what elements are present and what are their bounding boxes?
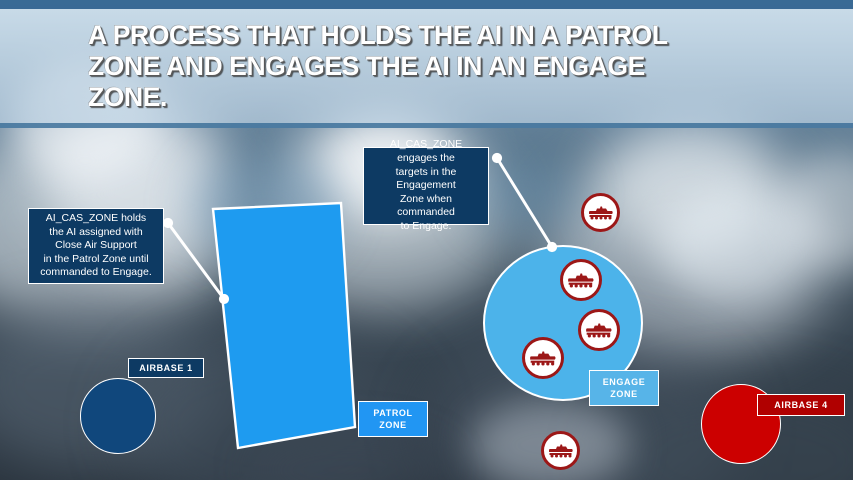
airbase-1-marker[interactable] <box>80 378 156 454</box>
page-title: A PROCESS THAT HOLDS THE AI IN A PATROL … <box>88 20 788 113</box>
header-top-rule <box>0 0 853 9</box>
armored-vehicle-icon <box>585 323 613 338</box>
callout-engage-zone: AI_CAS_ZONE engages the targets in the E… <box>363 147 489 225</box>
target-marker-4[interactable] <box>522 337 564 379</box>
patrol-zone-label: PATROL ZONE <box>358 401 428 437</box>
target-marker-3[interactable] <box>578 309 620 351</box>
armored-vehicle-icon <box>548 444 574 458</box>
armored-vehicle-icon <box>588 206 614 220</box>
armored-vehicle-icon <box>567 273 595 288</box>
armored-vehicle-icon <box>529 351 557 366</box>
target-marker-5[interactable] <box>541 431 580 470</box>
airbase-1-label: AIRBASE 1 <box>128 358 204 378</box>
target-marker-1[interactable] <box>581 193 620 232</box>
engage-zone-label: ENGAGE ZONE <box>589 370 659 406</box>
airbase-4-label: AIRBASE 4 <box>757 394 845 416</box>
presentation-slide: A PROCESS THAT HOLDS THE AI IN A PATROL … <box>0 0 853 480</box>
header-bottom-rule <box>0 123 853 128</box>
target-marker-2[interactable] <box>560 259 602 301</box>
callout-patrol-zone: AI_CAS_ZONE holds the AI assigned with C… <box>28 208 164 284</box>
